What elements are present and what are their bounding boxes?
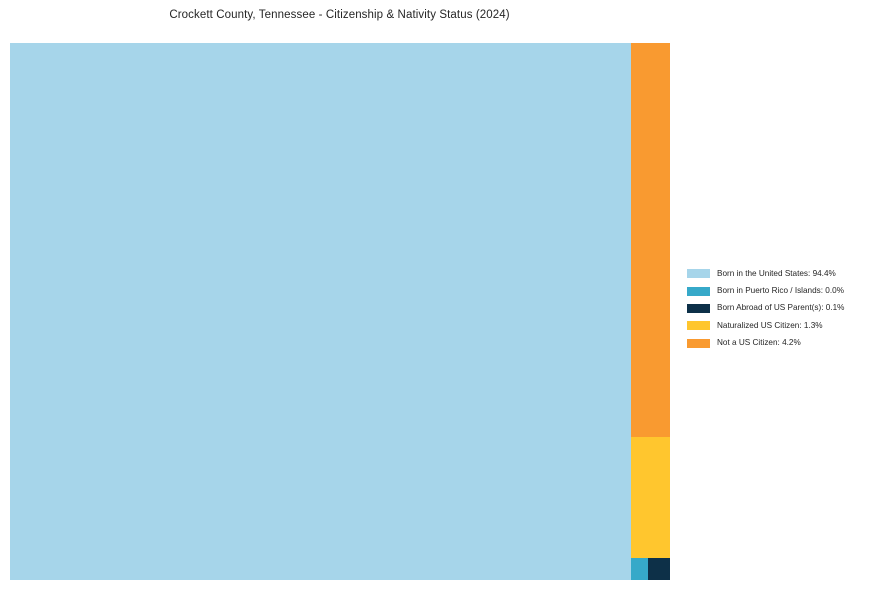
legend-item[interactable]: Born in Puerto Rico / Islands: 0.0% (687, 282, 882, 299)
legend-item-label: Born Abroad of US Parent(s): 0.1% (717, 304, 844, 312)
treemap-tile[interactable] (648, 558, 670, 580)
legend-color-swatch (687, 339, 710, 348)
legend-color-swatch (687, 304, 710, 313)
legend-item-label: Born in Puerto Rico / Islands: 0.0% (717, 287, 844, 295)
legend-item-label: Naturalized US Citizen: 1.3% (717, 322, 823, 330)
legend-item-label: Born in the United States: 94.4% (717, 270, 836, 278)
legend-color-swatch (687, 287, 710, 296)
legend-item[interactable]: Born Abroad of US Parent(s): 0.1% (687, 300, 882, 317)
chart-title: Crockett County, Tennessee - Citizenship… (0, 9, 679, 21)
treemap-tile[interactable] (631, 437, 670, 558)
treemap-tile[interactable] (631, 558, 648, 580)
legend-color-swatch (687, 321, 710, 330)
legend-item[interactable]: Naturalized US Citizen: 1.3% (687, 317, 882, 334)
legend-item-label: Not a US Citizen: 4.2% (717, 339, 801, 347)
legend-color-swatch (687, 269, 710, 278)
treemap-tile[interactable] (631, 43, 670, 437)
legend-item[interactable]: Not a US Citizen: 4.2% (687, 335, 882, 352)
legend-item[interactable]: Born in the United States: 94.4% (687, 265, 882, 282)
treemap-plot-area (10, 43, 670, 580)
treemap-chart: Crockett County, Tennessee - Citizenship… (0, 0, 889, 590)
treemap-tile[interactable] (10, 43, 631, 580)
chart-legend: Born in the United States: 94.4%Born in … (687, 265, 882, 352)
